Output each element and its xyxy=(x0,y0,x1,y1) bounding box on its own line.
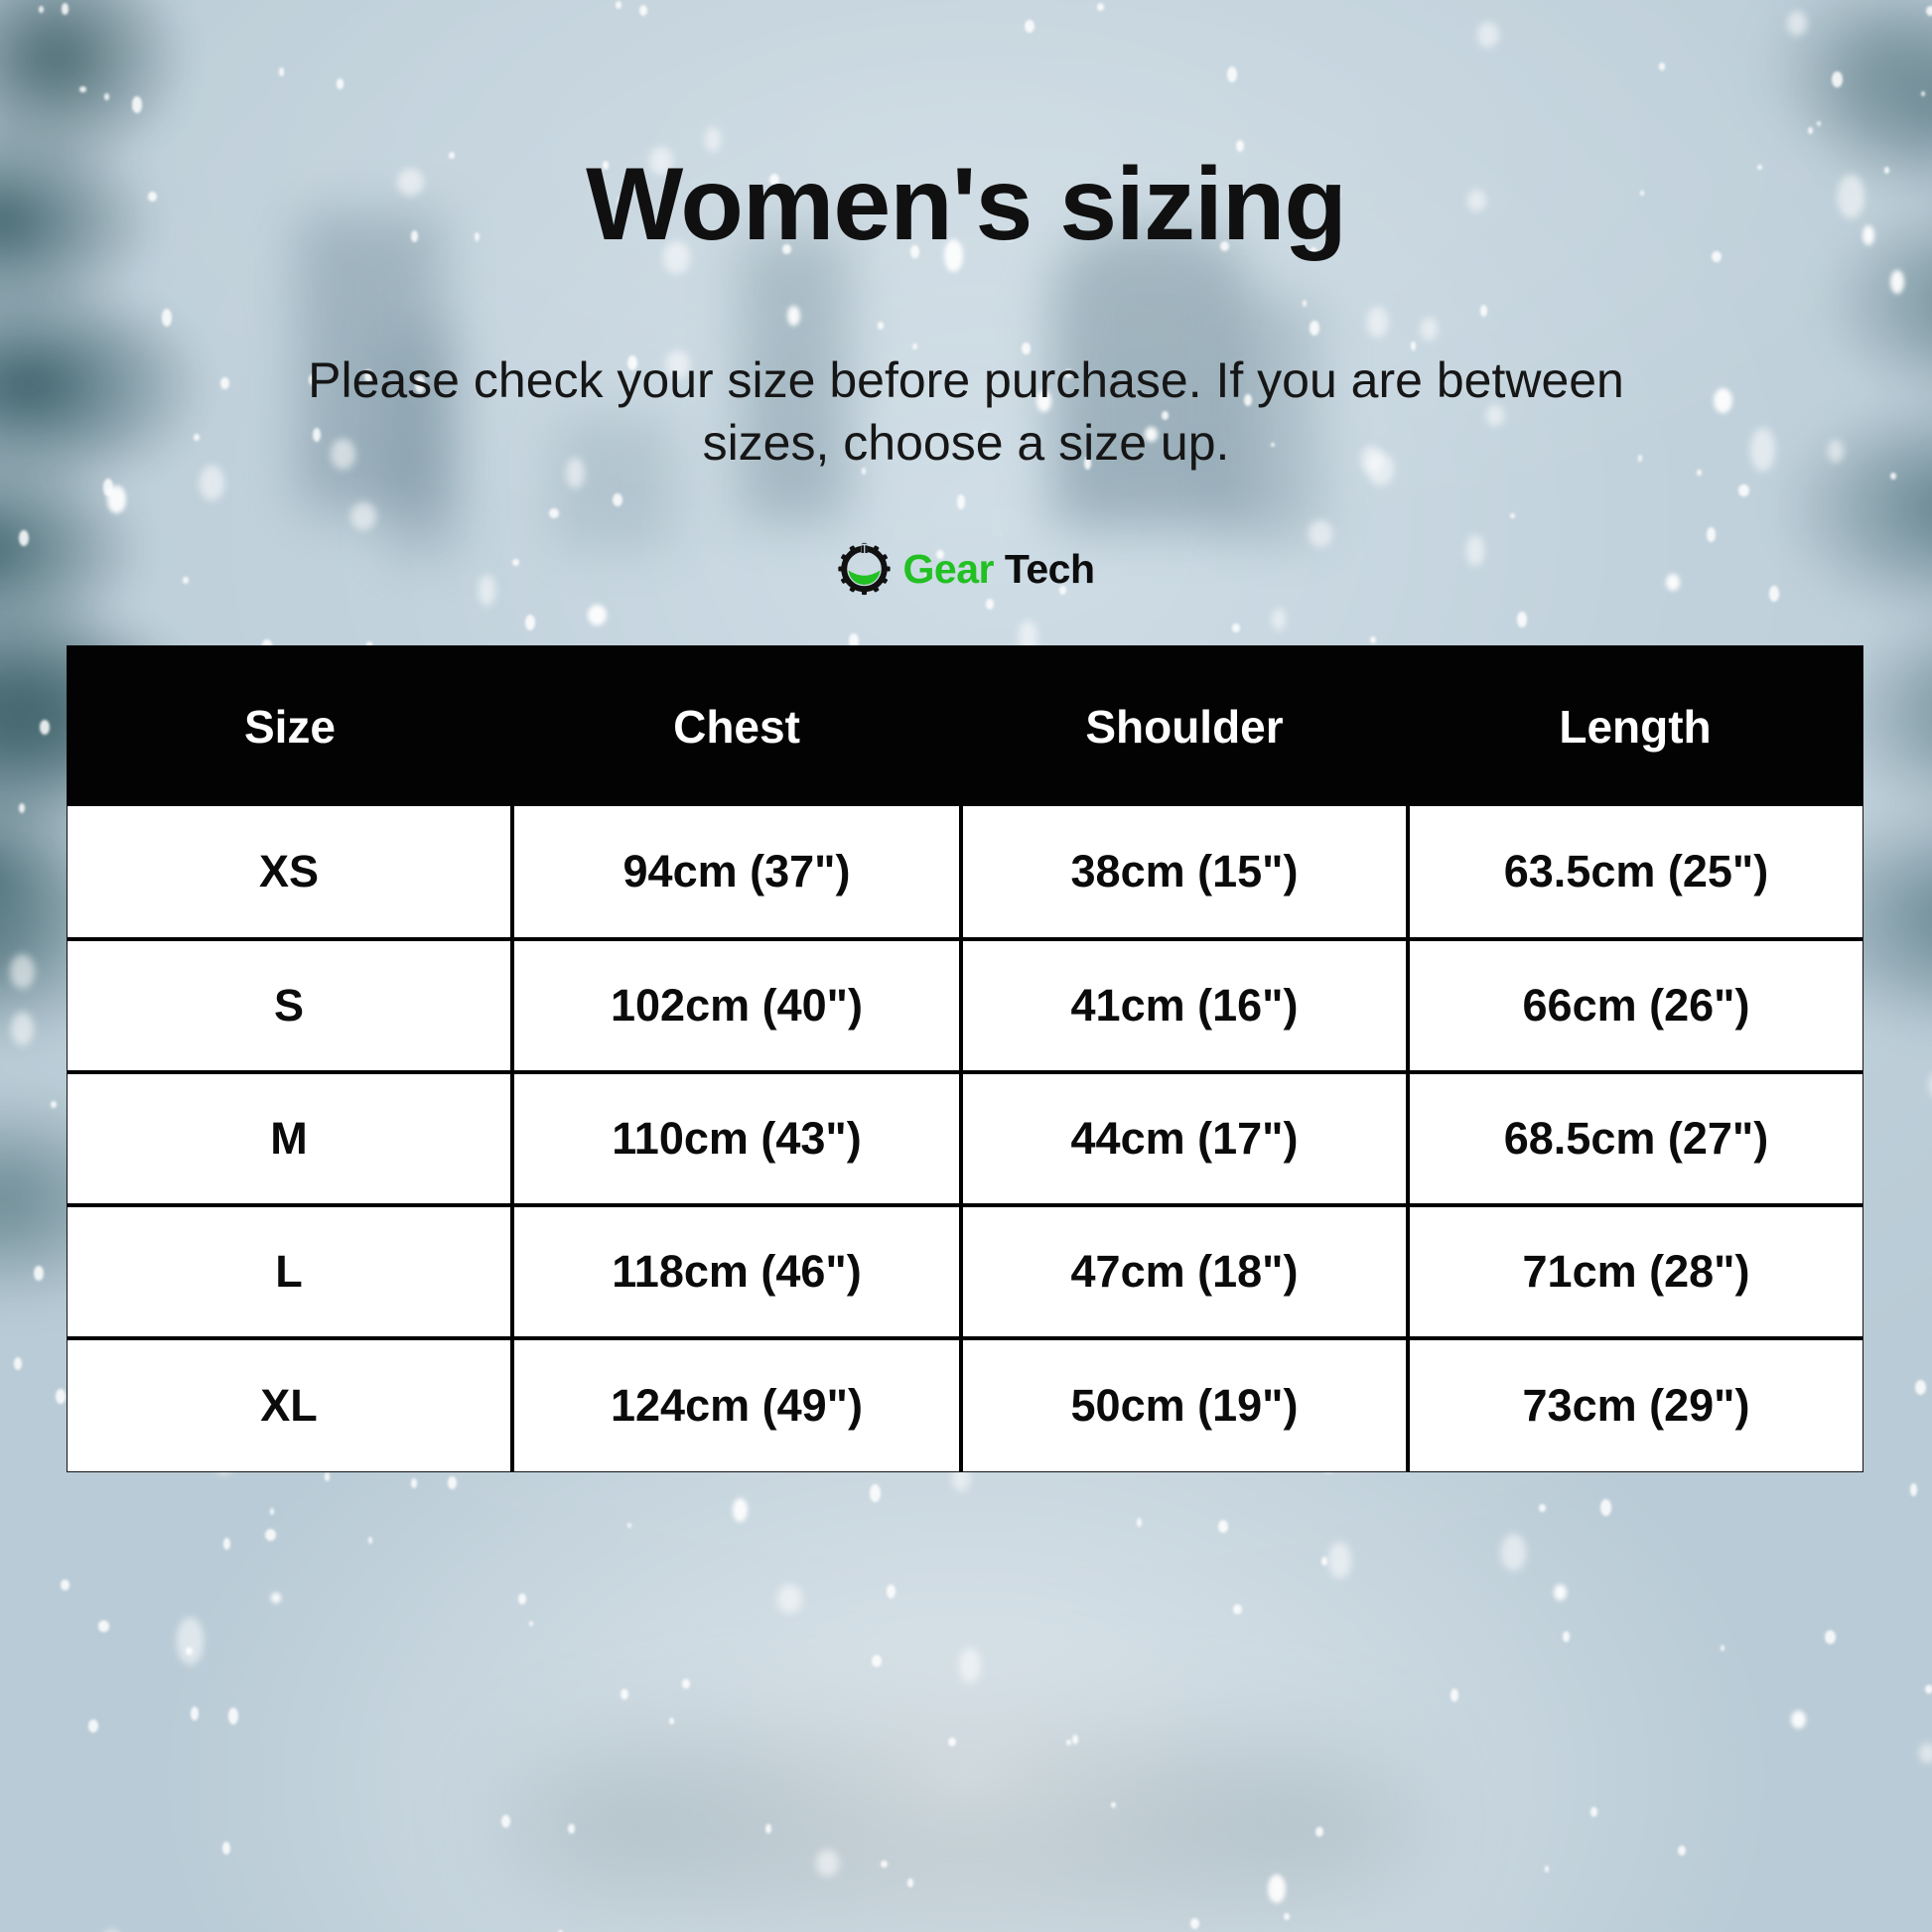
cell-size: L xyxy=(68,1205,512,1338)
table-row: S 102cm (40") 41cm (16") 66cm (26") xyxy=(68,939,1863,1072)
cell-size: M xyxy=(68,1072,512,1205)
cell-length: 63.5cm (25") xyxy=(1408,806,1863,939)
size-chart-table: Size Chest Shoulder Length XS 94cm (37")… xyxy=(68,646,1863,1471)
column-header-chest: Chest xyxy=(512,646,961,806)
brand-name-accent: Gear xyxy=(903,546,994,592)
cell-length: 71cm (28") xyxy=(1408,1205,1863,1338)
sizing-chart-content: Women's sizing Please check your size be… xyxy=(0,0,1932,1932)
table-header: Size Chest Shoulder Length xyxy=(68,646,1863,806)
column-header-size: Size xyxy=(68,646,512,806)
cell-shoulder: 44cm (17") xyxy=(961,1072,1408,1205)
cell-size: S xyxy=(68,939,512,1072)
column-header-shoulder: Shoulder xyxy=(961,646,1408,806)
column-header-length: Length xyxy=(1408,646,1863,806)
cell-length: 66cm (26") xyxy=(1408,939,1863,1072)
page-subtitle: Please check your size before purchase. … xyxy=(281,349,1651,475)
table-body: XS 94cm (37") 38cm (15") 63.5cm (25") S … xyxy=(68,806,1863,1471)
cell-length: 68.5cm (27") xyxy=(1408,1072,1863,1205)
cell-shoulder: 38cm (15") xyxy=(961,806,1408,939)
cell-shoulder: 50cm (19") xyxy=(961,1338,1408,1471)
table-row: M 110cm (43") 44cm (17") 68.5cm (27") xyxy=(68,1072,1863,1205)
brand-name-rest: Tech xyxy=(994,546,1095,592)
cell-size: XS xyxy=(68,806,512,939)
page-title: Women's sizing xyxy=(0,151,1932,259)
cell-chest: 118cm (46") xyxy=(512,1205,961,1338)
brand-logo: Gear Tech xyxy=(838,542,1095,596)
table-row: XS 94cm (37") 38cm (15") 63.5cm (25") xyxy=(68,806,1863,939)
cell-shoulder: 41cm (16") xyxy=(961,939,1408,1072)
cell-length: 73cm (29") xyxy=(1408,1338,1863,1471)
cell-chest: 124cm (49") xyxy=(512,1338,961,1471)
cell-chest: 102cm (40") xyxy=(512,939,961,1072)
table-row: L 118cm (46") 47cm (18") 71cm (28") xyxy=(68,1205,1863,1338)
gear-logo-icon xyxy=(838,542,892,596)
cell-size: XL xyxy=(68,1338,512,1471)
cell-chest: 110cm (43") xyxy=(512,1072,961,1205)
cell-chest: 94cm (37") xyxy=(512,806,961,939)
table-row: XL 124cm (49") 50cm (19") 73cm (29") xyxy=(68,1338,1863,1471)
table-header-row: Size Chest Shoulder Length xyxy=(68,646,1863,806)
brand-name: Gear Tech xyxy=(903,546,1095,593)
cell-shoulder: 47cm (18") xyxy=(961,1205,1408,1338)
